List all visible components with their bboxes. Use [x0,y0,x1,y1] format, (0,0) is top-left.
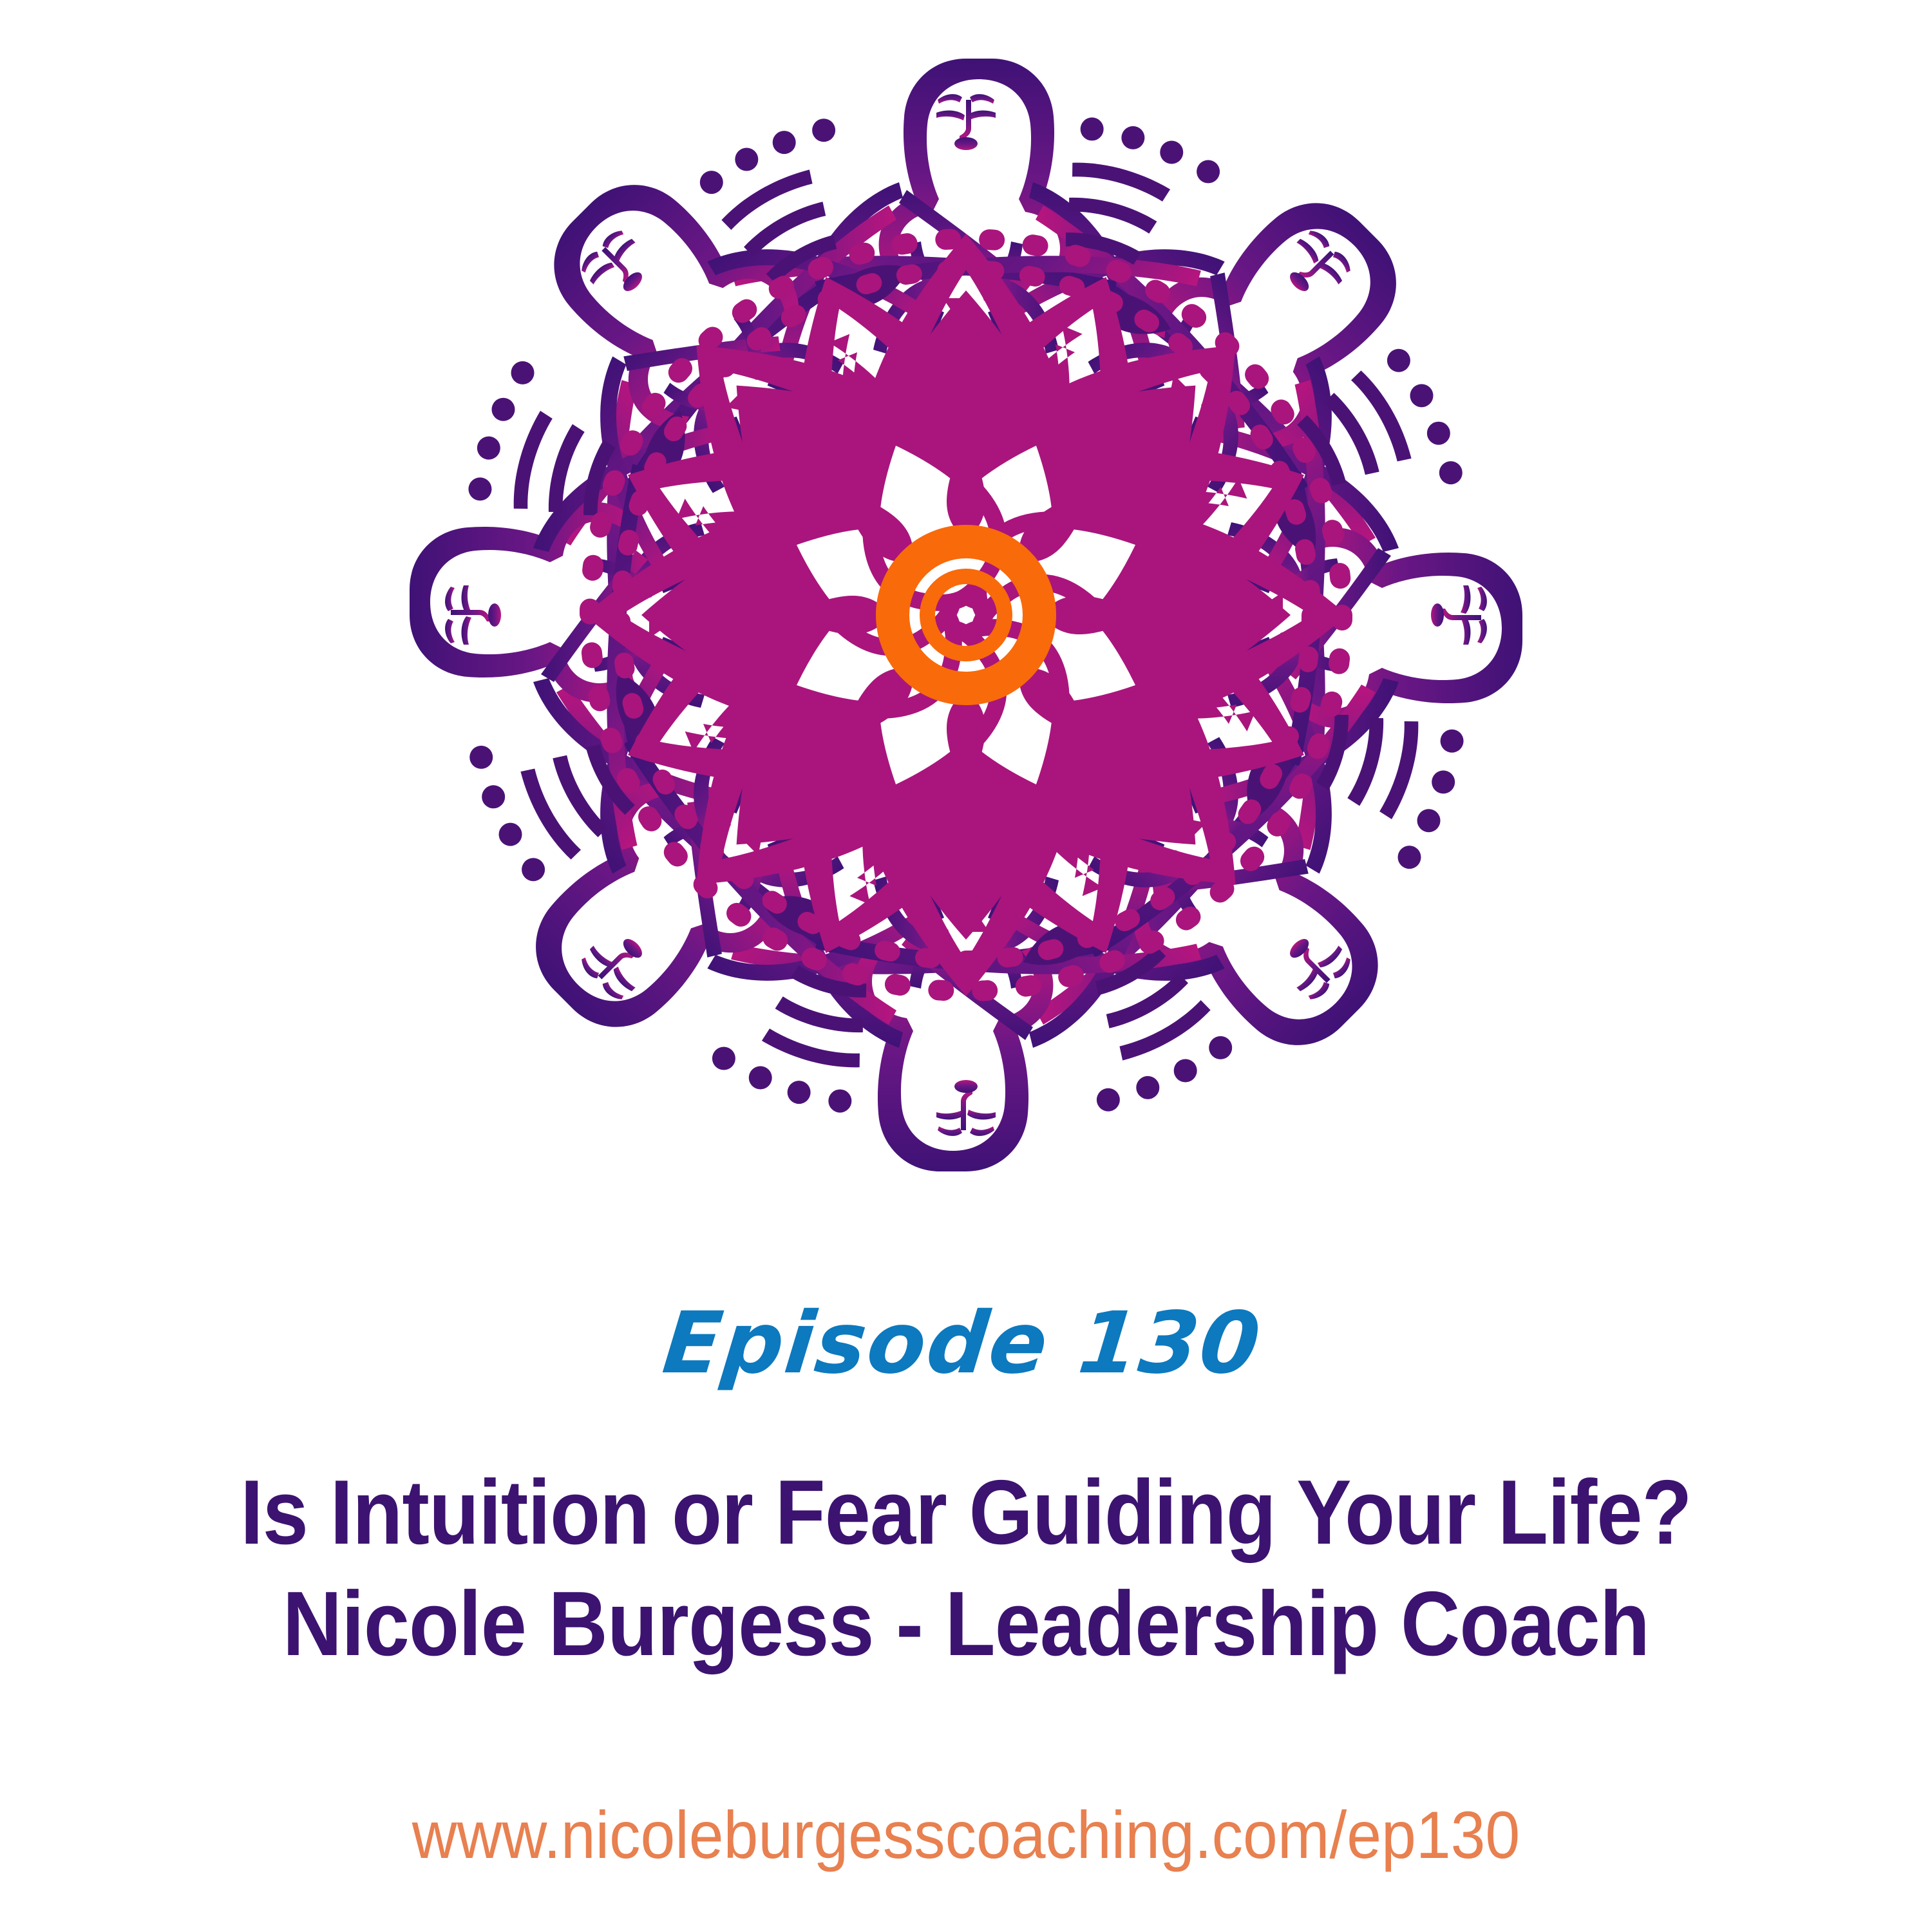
mandala-core-ray-ring [791,440,1141,790]
mandala-figure-ring [309,3,1623,1227]
mandala-artwork [309,3,1623,1227]
episode-title-line-2: Nicole Burgess - Leadership Coach [240,1568,1691,1680]
episode-url[interactable]: www.nicoleburgesscoaching.com/ep130 [412,1680,1520,1869]
cover-text-block: Episode 130 Is Intuition or Fear Guiding… [0,1224,1932,1869]
mandala-lotus-petal-ring [641,290,1291,940]
episode-title-line-1: Is Intuition or Fear Guiding Your Life? [240,1457,1691,1568]
episode-number-label: Episode 130 [659,1224,1273,1386]
podcast-cover-canvas: Episode 130 Is Intuition or Fear Guiding… [0,0,1932,1932]
episode-title: Is Intuition or Fear Guiding Your Life? … [240,1386,1691,1680]
mandala-svg [309,3,1623,1227]
